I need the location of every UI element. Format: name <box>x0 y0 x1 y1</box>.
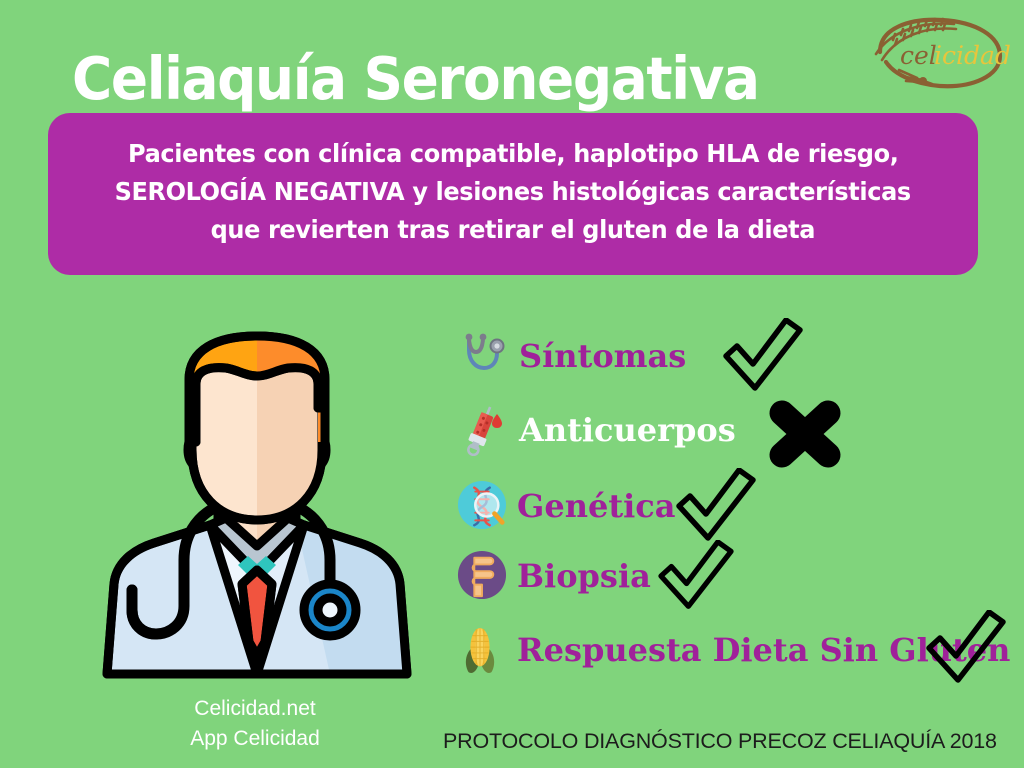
infographic-canvas: cel icidad Celiaquía Seronegativa Pacien… <box>0 0 1024 768</box>
definition-line-2: SEROLOGÍA NEGATIVA y lesiones histológic… <box>115 173 911 211</box>
definition-line-1: Pacientes con clínica compatible, haplot… <box>128 135 898 173</box>
svg-text:icidad: icidad <box>934 41 1011 70</box>
footer-brand: Celicidad.net App Celicidad <box>175 694 335 755</box>
syringe-icon <box>459 404 507 456</box>
doctor-avatar <box>92 322 422 682</box>
corn-icon <box>457 624 505 676</box>
check-icon-respuesta-dieta <box>923 610 1009 691</box>
definition-line-3: que revierten tras retirar el gluten de … <box>211 211 815 249</box>
page-title: Celiaquía Seronegativa <box>72 48 759 110</box>
definition-box: Pacientes con clínica compatible, haplot… <box>48 113 978 275</box>
list-item-genetica[interactable]: Genética <box>457 476 675 536</box>
list-item-label: Genética <box>517 487 675 525</box>
list-item-sintomas[interactable]: Síntomas <box>459 326 686 386</box>
footer-protocol: PROTOCOLO DIAGNÓSTICO PRECOZ CELIAQUÍA 2… <box>443 729 997 754</box>
list-item-label: Anticuerpos <box>519 411 736 449</box>
stethoscope-icon <box>459 330 507 382</box>
footer-app[interactable]: App Celicidad <box>175 724 335 754</box>
footer-site[interactable]: Celicidad.net <box>175 694 335 724</box>
check-icon-sintomas <box>720 318 806 399</box>
check-icon-genetica <box>673 468 759 549</box>
cross-icon-anticuerpos <box>763 394 847 479</box>
list-item-biopsia[interactable]: Biopsia <box>457 546 651 606</box>
list-item-label: Síntomas <box>519 337 686 375</box>
list-item-anticuerpos[interactable]: Anticuerpos <box>459 400 736 460</box>
check-icon-biopsia <box>655 540 737 617</box>
list-item-label: Biopsia <box>517 557 651 595</box>
celicidad-logo[interactable]: cel icidad <box>862 12 1012 94</box>
criteria-list: Síntomas <box>455 318 1015 686</box>
intestine-icon <box>457 550 505 602</box>
dna-magnifier-icon <box>457 480 505 532</box>
logo-wordmark: cel <box>900 41 937 70</box>
